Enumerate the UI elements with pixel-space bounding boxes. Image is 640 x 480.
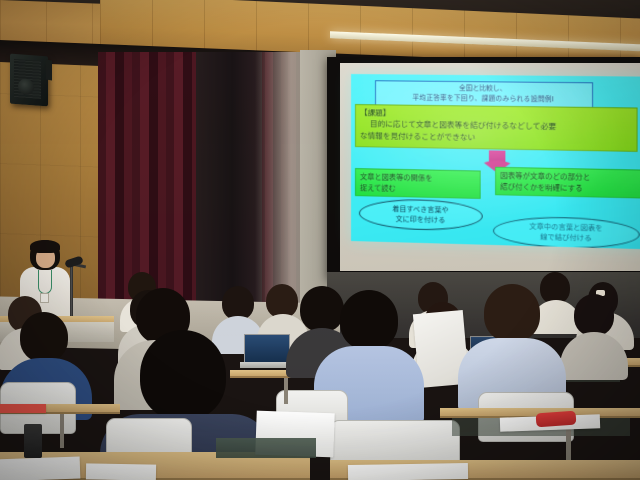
slide-callout-left: 着目すべき言葉や 文に印を付ける [359,198,483,231]
presenter-fringe [30,240,60,253]
head [484,284,540,342]
paper-on-desk[interactable] [0,457,80,480]
desk-leg [60,414,64,448]
point-left-line2: 捉えて読む [360,182,476,196]
microphone-stand [70,262,73,320]
presentation-slide: 全国と比較し、 平均正答率を下回り、課題のみられる設問例Ⅰ 【課題】 目的に応じ… [351,74,640,249]
slide-point-right: 図表等が文章のどの部分と 結び付くかを明確にする [495,167,640,199]
point-right-line2: 結び付くかを明確にする [500,181,638,195]
slide-point-left: 文章と図表等の関係を 捉えて読む [355,168,481,199]
head [266,284,298,318]
head [574,294,614,336]
slide-task-box: 【課題】 目的に応じて文章と図表等を結び付けるなどして必要 な情報を見付けること… [355,104,638,152]
paper-on-desk[interactable] [0,404,46,413]
head [140,330,226,420]
slide-callout-right: 文章中の言葉と図表を 線で結び付ける [493,215,640,249]
lecture-hall-photo: 全国と比較し、 平均正答率を下回り、課題のみられる設問例Ⅰ 【課題】 目的に応じ… [0,0,640,480]
desk-divider-panel [216,438,316,458]
head [340,290,398,350]
desk-leg [284,378,288,404]
head [20,312,68,362]
callout-right-line2: 線で結び付ける [540,232,591,244]
speaker-bracket [46,59,52,80]
water-bottle[interactable] [24,424,42,458]
speaker-cone [18,78,34,95]
presenter-name-badge [40,293,49,303]
paper-on-desk[interactable] [348,463,468,480]
wall-speaker [10,54,48,107]
slide-title-line2: 平均正答率を下回り、課題のみられる設問例Ⅰ [379,93,589,105]
callout-left-line2: 文に印を付ける [396,214,446,225]
presenter-lanyard [38,270,52,294]
head [300,286,344,332]
head [222,286,254,320]
paper-on-desk[interactable] [86,463,156,480]
laptop-screen[interactable] [244,334,290,362]
pencil-pouch[interactable] [536,411,577,428]
curtain-gap-shadow [196,52,262,314]
